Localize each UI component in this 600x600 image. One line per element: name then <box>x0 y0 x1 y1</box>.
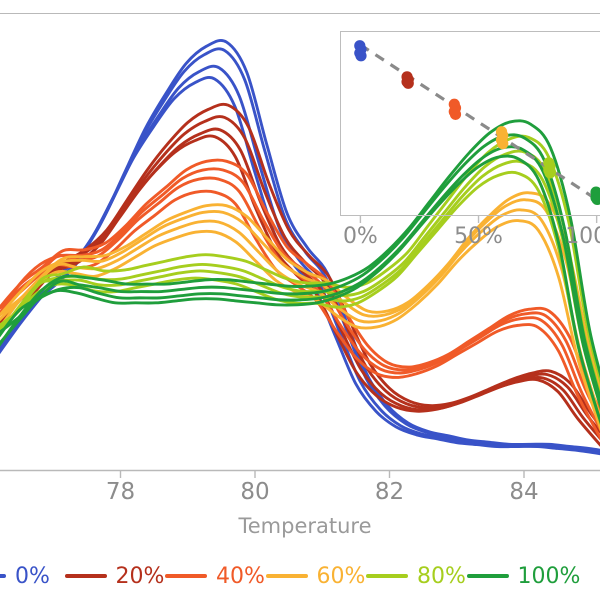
legend-swatch-icon <box>65 574 107 577</box>
legend-swatch-icon <box>266 574 308 577</box>
legend-item-60pct[interactable]: 60% <box>266 560 366 592</box>
legend-item-20pct[interactable]: 20% <box>65 560 165 592</box>
inset-point-0pct <box>355 50 366 61</box>
legend-label: 0% <box>15 564 50 589</box>
inset-x-axis-tick-label: 50% <box>454 224 503 249</box>
inset-point-20pct <box>403 78 414 89</box>
legend-item-40pct[interactable]: 40% <box>165 560 265 592</box>
legend-item-100pct[interactable]: 100% <box>467 560 581 592</box>
legend-label: 80% <box>417 564 466 589</box>
inset-point-40pct <box>450 109 461 120</box>
legend-swatch-icon <box>467 574 509 577</box>
legend-label: 40% <box>216 564 265 589</box>
legend-swatch-icon <box>0 574 6 577</box>
legend-swatch-icon <box>165 574 207 577</box>
legend-swatch-icon <box>366 574 408 577</box>
inset-point-80pct <box>544 167 555 178</box>
inset-x-axis-tick-label: 0% <box>343 224 378 249</box>
legend-label: 20% <box>116 564 165 589</box>
figure-root: 78808284 Temperature 0%50%100% 0%20%40%6… <box>0 0 600 600</box>
legend-label: 100% <box>518 564 581 589</box>
inset-scatter-chart <box>0 0 600 600</box>
inset-x-axis-tick-label: 100% <box>565 224 600 249</box>
legend-item-0pct[interactable]: 0% <box>0 560 50 592</box>
inset-point-60pct <box>497 138 508 149</box>
legend-label: 60% <box>317 564 366 589</box>
legend-item-80pct[interactable]: 80% <box>366 560 466 592</box>
legend: 0%20%40%60%80%100% <box>0 560 600 600</box>
inset-trendline <box>360 45 596 200</box>
